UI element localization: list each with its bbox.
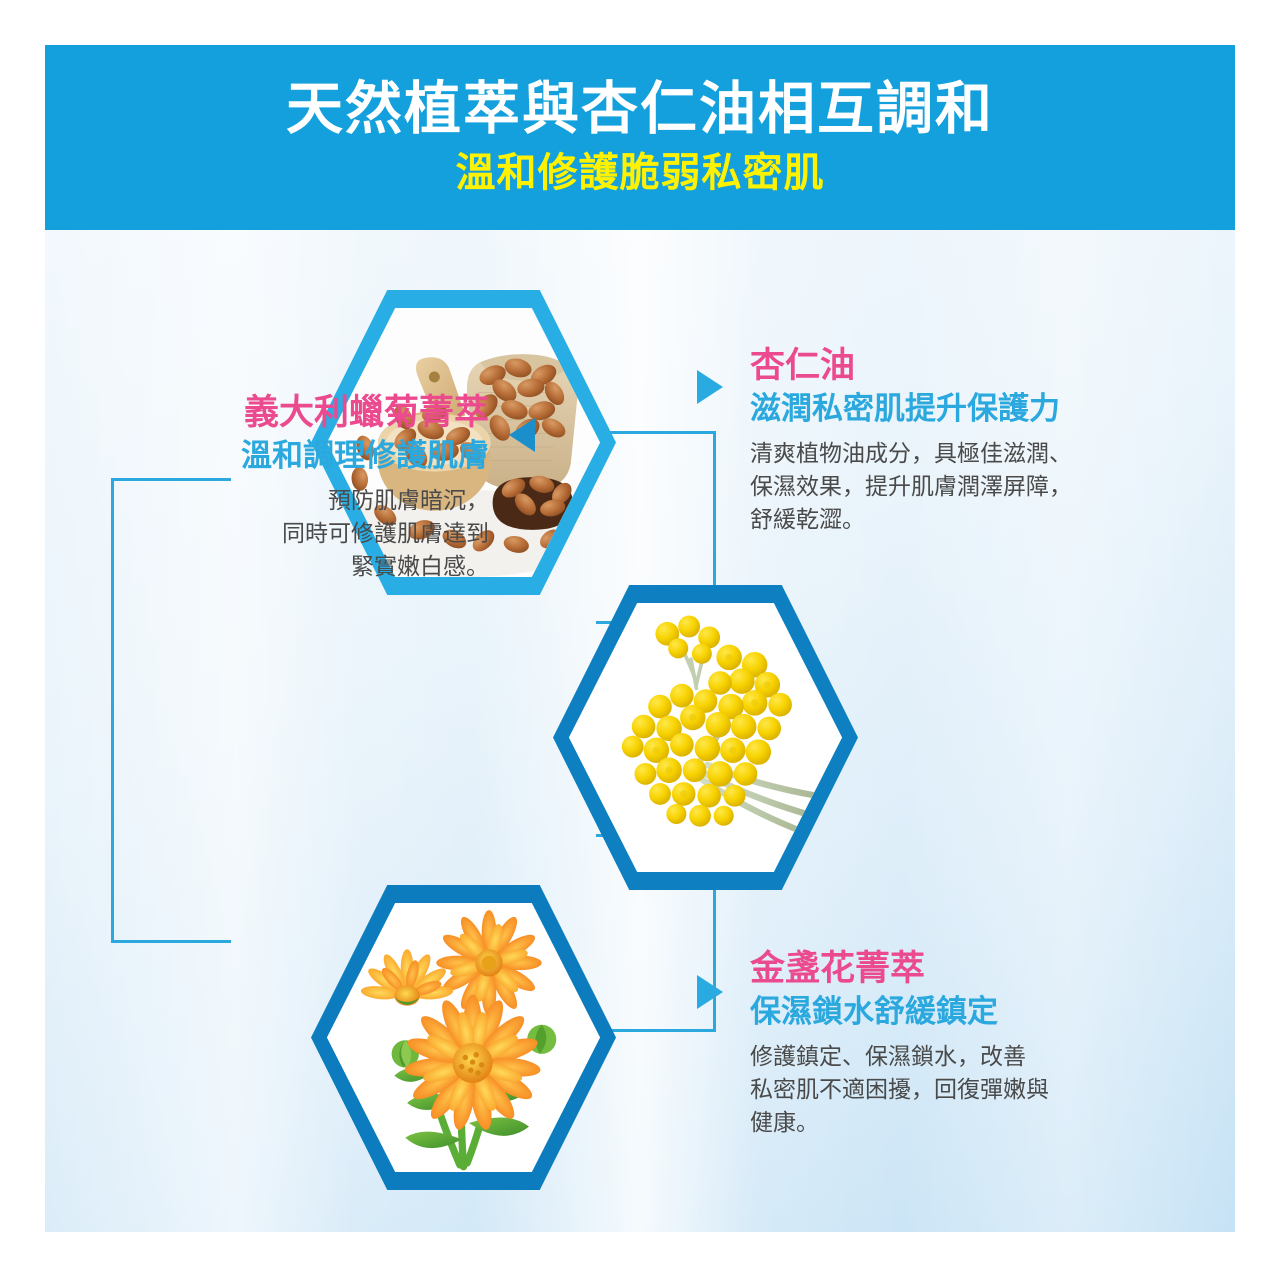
body-line: 修護鎮定、保濕鎖水，改善 <box>750 1040 1180 1073</box>
connector-helichrysum-horizontal-bottom <box>111 940 231 943</box>
body-line: 緊實嫩白感。 <box>85 550 489 583</box>
ingredient-body-helichrysum: 預防肌膚暗沉， 同時可修護肌膚達到 緊實嫩白感。 <box>85 484 489 582</box>
ingredient-body-almond-oil: 清爽植物油成分，具極佳滋潤、 保濕效果，提升肌膚潤澤屏障， 舒緩乾澀。 <box>750 437 1180 535</box>
hexagon-helichrysum-extract <box>553 585 858 890</box>
triangle-left-icon-helichrysum <box>509 418 535 452</box>
hexagon-calendula-extract <box>311 885 616 1190</box>
body-line: 同時可修護肌膚達到 <box>85 517 489 550</box>
ingredient-subtitle-almond-oil: 滋潤私密肌提升保護力 <box>750 390 1180 427</box>
helichrysum-illustration <box>569 603 842 872</box>
page-title: 天然植萃與杏仁油相互調和 <box>286 78 994 142</box>
body-line: 清爽植物油成分，具極佳滋潤、 <box>750 437 1180 470</box>
page-subtitle: 溫和修護脆弱私密肌 <box>456 149 825 197</box>
body-line: 預防肌膚暗沉， <box>85 484 489 517</box>
ingredient-subtitle-helichrysum: 溫和調理修護肌膚 <box>85 437 489 474</box>
body-line: 私密肌不適困擾，回復彈嫩與 <box>750 1073 1180 1106</box>
triangle-right-icon-calendula <box>697 975 723 1009</box>
calendula-flowers-photo <box>327 903 600 1172</box>
ingredient-subtitle-calendula: 保濕鎖水舒緩鎮定 <box>750 993 1180 1030</box>
ingredient-title-almond-oil: 杏仁油 <box>750 345 1180 386</box>
header-banner: 天然植萃與杏仁油相互調和 溫和修護脆弱私密肌 <box>45 45 1235 230</box>
ingredient-block-calendula: 金盞花菁萃 保濕鎖水舒緩鎮定 修護鎮定、保濕鎖水，改善 私密肌不適困擾，回復彈嫩… <box>750 948 1180 1138</box>
ingredient-title-calendula: 金盞花菁萃 <box>750 948 1180 989</box>
body-line: 健康。 <box>750 1106 1180 1139</box>
connector-calendula-horizontal-bottom <box>596 1029 716 1032</box>
helichrysum-flowers-photo <box>569 603 842 872</box>
triangle-right-icon-almond <box>697 370 723 404</box>
calendula-illustration <box>327 903 600 1172</box>
infographic-canvas: 天然植萃與杏仁油相互調和 溫和修護脆弱私密肌 <box>0 0 1280 1280</box>
body-line: 保濕效果，提升肌膚潤澤屏障， <box>750 470 1180 503</box>
body-line: 舒緩乾澀。 <box>750 503 1180 536</box>
connector-almond-horizontal-top <box>596 431 716 434</box>
ingredient-title-helichrysum: 義大利蠟菊菁萃 <box>85 392 489 433</box>
content-panel: 杏仁油 滋潤私密肌提升保護力 清爽植物油成分，具極佳滋潤、 保濕效果，提升肌膚潤… <box>45 230 1235 1232</box>
ingredient-body-calendula: 修護鎮定、保濕鎖水，改善 私密肌不適困擾，回復彈嫩與 健康。 <box>750 1040 1180 1138</box>
ingredient-block-helichrysum: 義大利蠟菊菁萃 溫和調理修護肌膚 預防肌膚暗沉， 同時可修護肌膚達到 緊實嫩白感… <box>85 392 489 582</box>
ingredient-block-almond-oil: 杏仁油 滋潤私密肌提升保護力 清爽植物油成分，具極佳滋潤、 保濕效果，提升肌膚潤… <box>750 345 1180 535</box>
